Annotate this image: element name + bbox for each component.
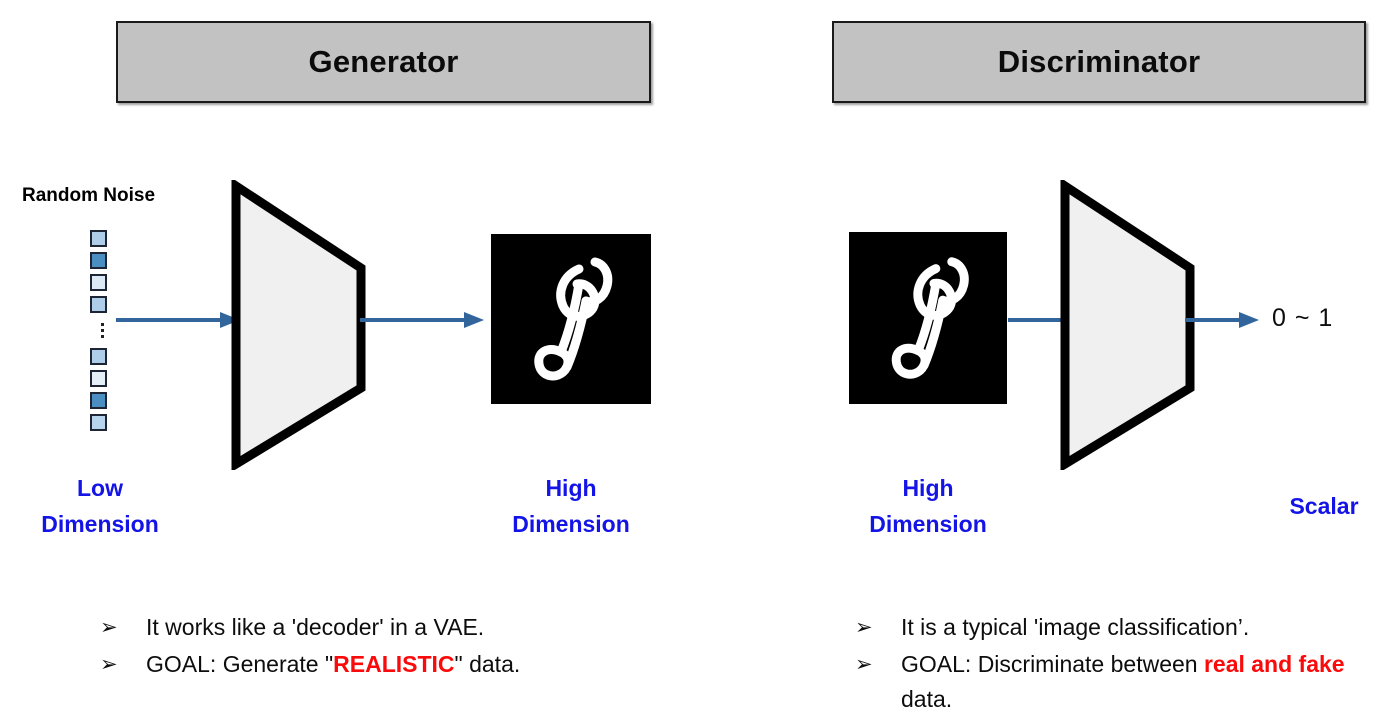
bullet-text: GOAL: Generate "REALISTIC" data. (146, 647, 700, 682)
right-arrow-icon (116, 311, 240, 329)
neural-network-trapezoid-icon (1057, 180, 1203, 470)
generator-title: Generator (309, 44, 459, 80)
low-dimension-caption: Low Dimension (20, 470, 180, 542)
mnist-digit-icon (491, 234, 651, 404)
generator-bullet-list: ➢ It works like a 'decoder' in a VAE. ➢ … (100, 610, 700, 684)
noise-cell-icon (90, 296, 107, 313)
generator-header-box: Generator (116, 21, 651, 103)
list-item: ➢ GOAL: Generate "REALISTIC" data. (100, 647, 700, 682)
list-item: ➢ It works like a 'decoder' in a VAE. (100, 610, 700, 645)
scalar-caption: Scalar (1244, 488, 1400, 524)
discriminator-title: Discriminator (998, 44, 1200, 80)
noise-cell-icon (90, 274, 107, 291)
highlight-realistic: REALISTIC (333, 651, 454, 677)
arrow-bullet-icon: ➢ (100, 647, 146, 682)
arrow-bullet-icon: ➢ (855, 647, 901, 682)
noise-cell-icon (90, 370, 107, 387)
noise-cell-icon (90, 230, 107, 247)
noise-cell-icon (90, 348, 107, 365)
bullet-text: GOAL: Discriminate between real and fake… (901, 647, 1375, 717)
highlight-real-and-fake: real and fake (1204, 651, 1345, 677)
bullet-text: It works like a 'decoder' in a VAE. (146, 610, 700, 645)
neural-network-trapezoid-icon (228, 180, 374, 470)
discriminator-header-box: Discriminator (832, 21, 1366, 103)
noise-cell-icon (90, 414, 107, 431)
high-dimension-caption-generator: High Dimension (491, 470, 651, 542)
random-noise-label: Random Noise (22, 185, 155, 207)
arrow-bullet-icon: ➢ (855, 610, 901, 645)
high-dimension-caption-discriminator: High Dimension (848, 470, 1008, 542)
mnist-digit-icon (849, 232, 1007, 404)
noise-cell-icon (90, 252, 107, 269)
list-item: ➢ It is a typical 'image classification’… (855, 610, 1375, 645)
noise-cell-icon (90, 392, 107, 409)
list-item: ➢ GOAL: Discriminate between real and fa… (855, 647, 1375, 717)
right-arrow-icon (360, 311, 484, 329)
bullet-text: It is a typical 'image classification’. (901, 610, 1375, 645)
arrow-bullet-icon: ➢ (100, 610, 146, 645)
noise-vector (90, 230, 114, 436)
diagram-canvas: Generator Discriminator Random Noise (0, 0, 1400, 726)
scalar-output-value: 0 ~ 1 (1272, 304, 1333, 333)
right-arrow-icon (1185, 311, 1259, 329)
vertical-ellipsis-icon (90, 318, 114, 343)
discriminator-bullet-list: ➢ It is a typical 'image classification’… (855, 610, 1375, 719)
